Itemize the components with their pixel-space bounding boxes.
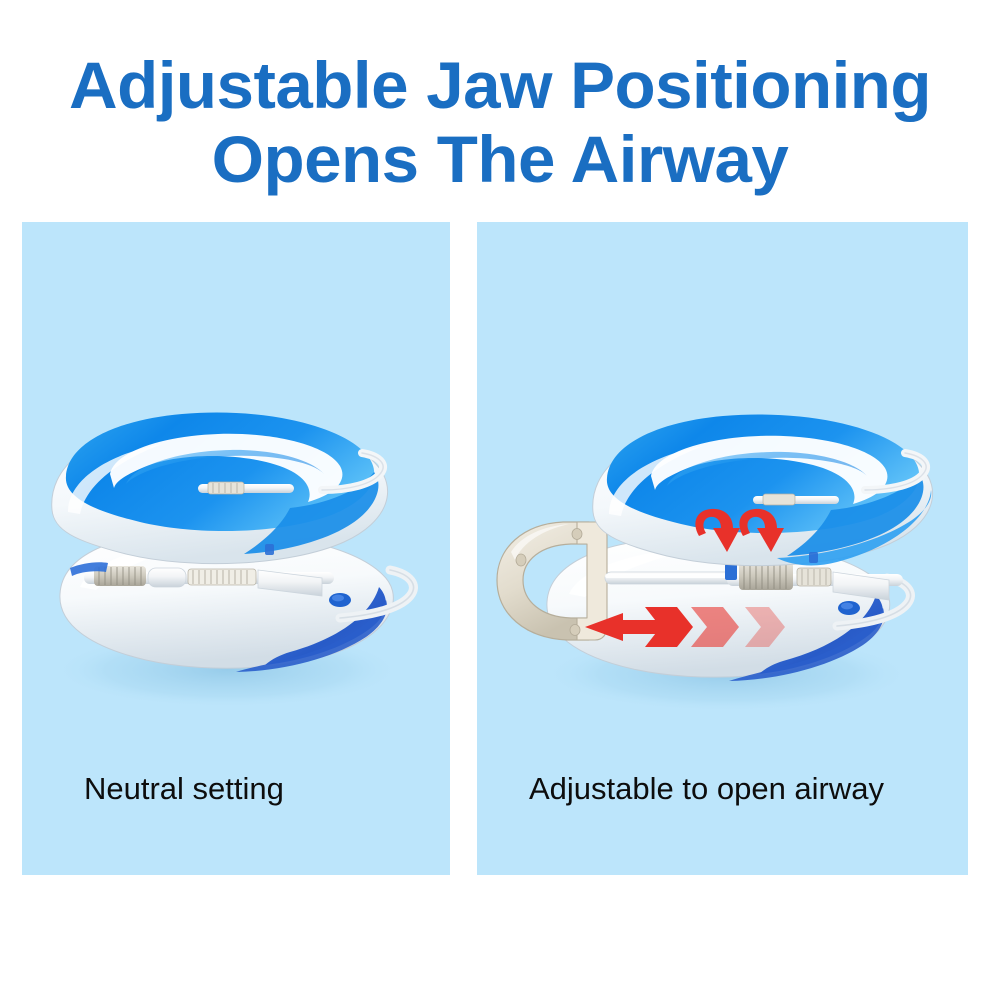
page-title: Adjustable Jaw Positioning Opens The Air… — [0, 52, 1000, 192]
panel-adjusted: Adjustable to open airway — [477, 222, 968, 875]
title-line-2: Opens The Airway — [0, 126, 1000, 192]
panel-neutral: Neutral setting — [22, 222, 450, 875]
caption-neutral: Neutral setting — [22, 771, 450, 807]
infographic-root: Adjustable Jaw Positioning Opens The Air… — [0, 0, 1000, 1000]
title-line-1: Adjustable Jaw Positioning — [0, 52, 1000, 118]
caption-adjusted: Adjustable to open airway — [477, 771, 968, 807]
